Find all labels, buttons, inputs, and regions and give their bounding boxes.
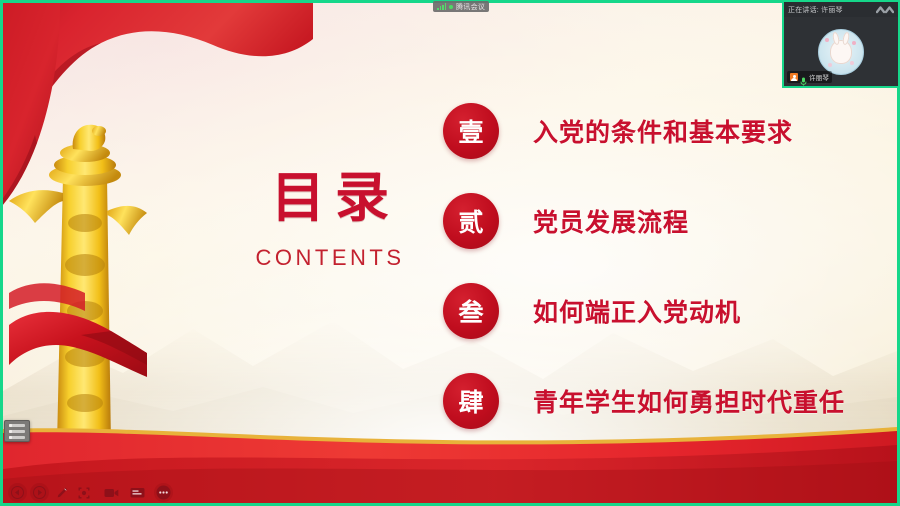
green-status-dot-icon — [449, 5, 453, 9]
video-tile[interactable]: 正在讲话: 许丽琴 — [784, 2, 898, 86]
panel-row — [9, 436, 25, 439]
slide-list-panel-icon[interactable] — [4, 420, 30, 442]
more-options-button[interactable] — [154, 483, 173, 502]
pen-icon — [55, 486, 69, 500]
arrow-left-circle-icon — [11, 486, 24, 499]
participant-nameplate: 许丽琴 — [787, 71, 832, 83]
presenter-view-button[interactable] — [102, 483, 121, 502]
avatar — [818, 29, 864, 75]
agenda-number-badge: 壹 — [443, 103, 499, 159]
agenda-number-badge: 叁 — [443, 283, 499, 339]
spotlight-icon — [77, 486, 91, 500]
participant-name-label: 许丽琴 — [809, 72, 829, 82]
double-chevron-up-icon[interactable] — [876, 5, 894, 14]
subtitles-button[interactable] — [128, 483, 147, 502]
screen-share-stage: 目录 CONTENTS 壹 入党的条件和基本要求 贰 党员发展流程 叁 如何端正… — [0, 0, 900, 506]
slide-title-block: 目录 CONTENTS — [225, 171, 435, 271]
next-slide-button[interactable] — [30, 483, 49, 502]
agenda-number-badge: 贰 — [443, 193, 499, 249]
video-thumbnail-panel[interactable]: 正在讲话: 许丽琴 — [782, 0, 900, 88]
previous-slide-button[interactable] — [8, 483, 27, 502]
agenda-item-label: 党员发展流程 — [533, 203, 689, 239]
panel-row — [9, 424, 25, 427]
meeting-app-label: 腾讯会议 — [456, 2, 485, 12]
microphone-on-icon — [800, 73, 807, 82]
user-avatar-icon — [790, 73, 798, 81]
page-subtitle: CONTENTS — [225, 245, 435, 271]
list-item[interactable]: 叁 如何端正入党动机 — [443, 279, 883, 343]
page-title: 目录 — [235, 171, 435, 225]
powerpoint-slide[interactable]: 目录 CONTENTS 壹 入党的条件和基本要求 贰 党员发展流程 叁 如何端正… — [3, 3, 897, 503]
pen-annotate-button[interactable] — [52, 483, 71, 502]
panel-row — [9, 430, 25, 433]
presentation-toolbar — [8, 483, 173, 502]
ellipsis-circle-icon — [156, 485, 171, 500]
speaking-indicator-label: 正在讲话: 许丽琴 — [788, 5, 843, 15]
list-item[interactable]: 壹 入党的条件和基本要求 — [443, 99, 883, 163]
caption-box-icon — [130, 487, 145, 499]
agenda-item-label: 入党的条件和基本要求 — [533, 113, 793, 149]
signal-bars-icon — [437, 3, 446, 10]
video-header: 正在讲话: 许丽琴 — [784, 2, 898, 17]
meeting-status-pill[interactable]: 腾讯会议 — [433, 1, 489, 12]
video-screen-icon — [104, 487, 119, 499]
laser-pointer-button[interactable] — [74, 483, 93, 502]
bunny-avatar-art — [830, 40, 852, 64]
agenda-item-label: 如何端正入党动机 — [533, 293, 741, 329]
list-item[interactable]: 贰 党员发展流程 — [443, 189, 883, 253]
video-feed-area[interactable]: 许丽琴 — [784, 17, 898, 86]
arrow-right-circle-icon — [33, 486, 46, 499]
